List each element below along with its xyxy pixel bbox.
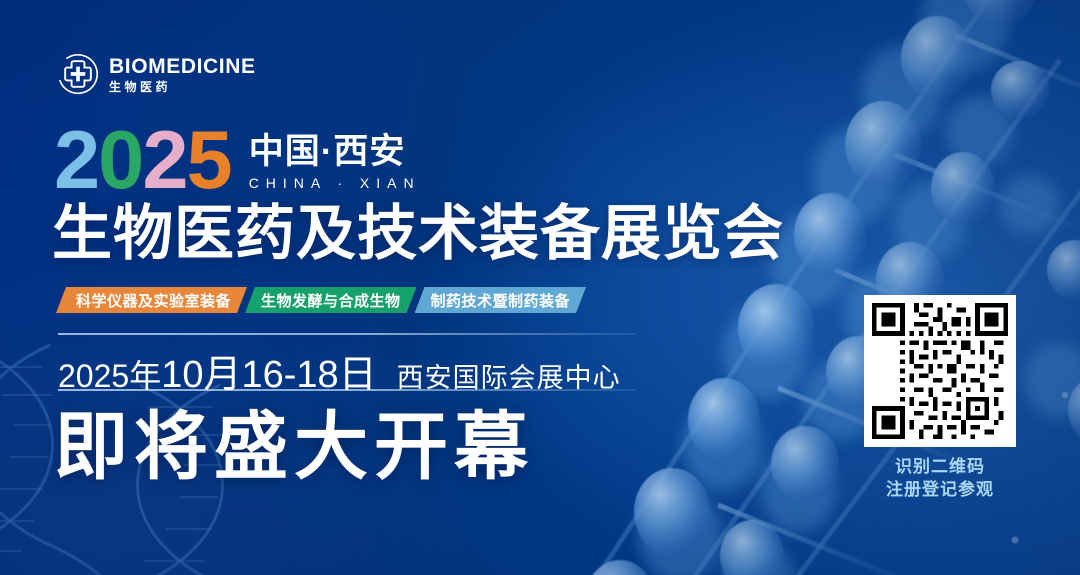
year-digit-3: 2 [142,124,186,195]
category-tag-fermentation: 生物发酵与合成生物 [245,287,417,313]
category-tag-pharma: 制药技术暨制药装备 [415,287,587,313]
banner-content: BIOMEDICINE 生物医药 2 0 2 5 中国·西安 CHINA · X… [0,0,1080,575]
qr-block[interactable]: 识别二维码 注册登记参观 [864,295,1016,502]
event-banner: BIOMEDICINE 生物医药 2 0 2 5 中国·西安 CHINA · X… [0,0,1080,575]
event-date-venue: 2025年10月16-18日 西安国际会展中心 [58,343,621,398]
event-date-year: 2025年 [58,358,161,394]
year-digit-2: 0 [98,124,142,195]
qr-code-icon[interactable] [864,295,1016,447]
page-title: 生物医药及技术装备展览会 [52,204,784,264]
brand-name-en: BIOMEDICINE [109,56,256,77]
city-block: 中国·西安 CHINA · XIAN [249,134,421,195]
event-date-range: 10月16-18日 [161,354,376,396]
event-venue: 西安国际会展中心 [397,356,621,395]
year-city-row: 2 0 2 5 中国·西安 CHINA · XIAN [54,124,421,195]
brand-logo: BIOMEDICINE 生物医药 [56,52,256,96]
category-tag-list: 科学仪器及实验室装备 生物发酵与合成生物 制药技术暨制药装备 [56,287,584,313]
divider-top [58,333,636,335]
qr-caption-line2: 注册登记参观 [864,479,1016,502]
city-name-en: CHINA · XIAN [249,175,421,191]
city-name-cn: 中国·西安 [249,134,421,169]
medical-cross-circle-icon [56,52,100,96]
event-date: 2025年10月16-18日 [58,343,377,398]
year-digit-1: 2 [54,124,98,195]
year-digit-4: 5 [187,124,231,195]
event-slogan: 即将盛大开幕 [54,410,534,484]
qr-caption-line1: 识别二维码 [864,456,1016,479]
qr-caption: 识别二维码 注册登记参观 [864,456,1016,502]
year-2025: 2 0 2 5 [54,124,231,195]
brand-name-cn: 生物医药 [109,81,171,93]
category-tag-instruments: 科学仪器及实验室装备 [56,287,247,313]
brand-logo-text: BIOMEDICINE 生物医药 [109,56,256,93]
